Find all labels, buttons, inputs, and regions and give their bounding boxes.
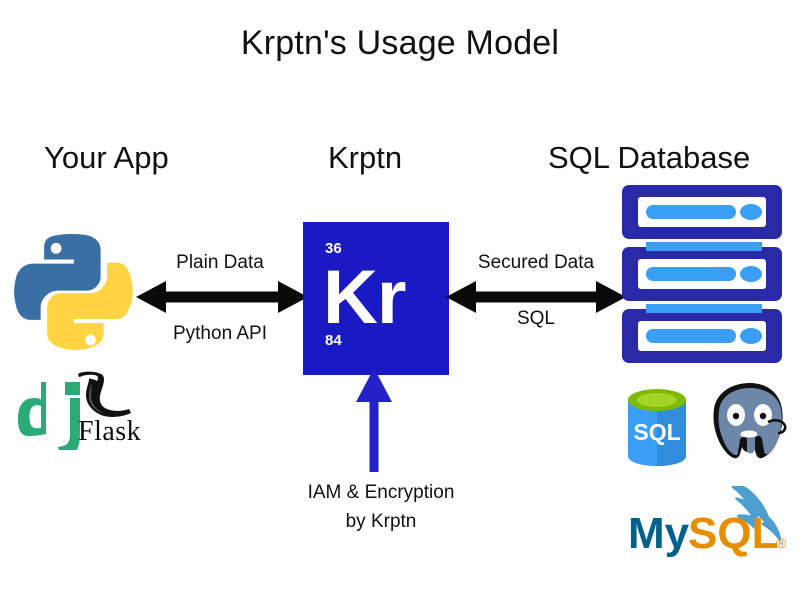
mysql-dolphin-icon: My SQL ® (626, 486, 794, 566)
label-sql: SQL (446, 308, 626, 330)
postgresql-elephant-icon (706, 382, 794, 474)
flask-wordmark: Flask (78, 416, 141, 448)
azure-sql-wordmark: SQL (633, 419, 680, 445)
label-iam-encryption: IAM & Encryption by Krptn (250, 478, 512, 536)
python-logo (8, 228, 140, 365)
heading-krptn: Krptn (328, 140, 402, 176)
flask-logo: Flask (72, 370, 150, 425)
label-plain-data: Plain Data (136, 252, 304, 274)
krptn-atomic-mass: 84 (325, 332, 342, 349)
arrow-iam-encryption-up (352, 368, 396, 478)
python-logo-icon (8, 228, 140, 360)
django-logo (14, 372, 80, 455)
label-python-api: Python API (136, 323, 304, 345)
azure-sql-logo: SQL (622, 386, 692, 475)
database-server-stack-icon (620, 183, 784, 370)
postgresql-logo (706, 382, 794, 479)
label-secured-data: Secured Data (446, 252, 626, 274)
sql-database-cylinder-icon: SQL (622, 386, 692, 470)
server-rack-icon (620, 183, 784, 365)
diagram-canvas: Krptn's Usage Model Your App Krptn SQL D… (0, 0, 800, 600)
mysql-registered-mark: ® (776, 535, 787, 551)
heading-sql-database: SQL Database (548, 140, 750, 176)
mysql-wordmark-my: My (628, 509, 690, 558)
arrow-app-to-krptn (136, 278, 308, 316)
heading-your-app: Your App (44, 140, 169, 176)
mysql-logo: My SQL ® (626, 486, 794, 571)
krptn-logo-tile: 36 Kr 84 (303, 222, 449, 375)
mysql-wordmark-sql: SQL (688, 509, 778, 558)
django-logo-icon (14, 372, 80, 450)
page-title: Krptn's Usage Model (0, 24, 800, 63)
flask-horn-icon (72, 370, 150, 420)
label-iam-line1: IAM & Encryption (250, 478, 512, 507)
label-iam-line2: by Krptn (250, 507, 512, 536)
